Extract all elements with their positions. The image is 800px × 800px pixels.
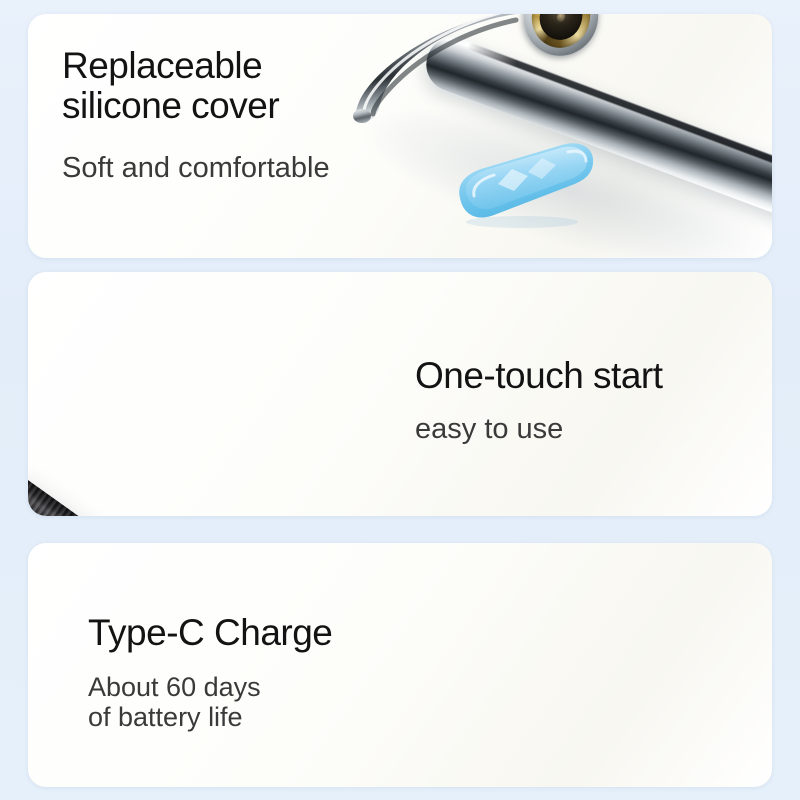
panel-1-subtitle: Soft and comfortable — [62, 152, 330, 184]
panel-3-subtitle: About 60 days of battery life — [88, 672, 261, 732]
panel-2-headline: One-touch start — [415, 356, 663, 396]
panel-2-subtitle: easy to use — [415, 413, 563, 445]
panel-3-background-wash — [28, 543, 772, 787]
product-feature-infographic: Replaceable silicone cover Soft and comf… — [0, 0, 800, 800]
camera-lens-head — [514, 14, 608, 66]
probe-curved-tip — [340, 14, 520, 124]
panel-3-headline: Type-C Charge — [88, 613, 332, 653]
lens-pupil — [556, 14, 567, 23]
panel-1-headline: Replaceable silicone cover — [62, 46, 279, 125]
feature-panel-type-c-charge — [28, 543, 772, 787]
panel-3-inner — [28, 543, 772, 787]
silicone-cover — [436, 136, 598, 228]
